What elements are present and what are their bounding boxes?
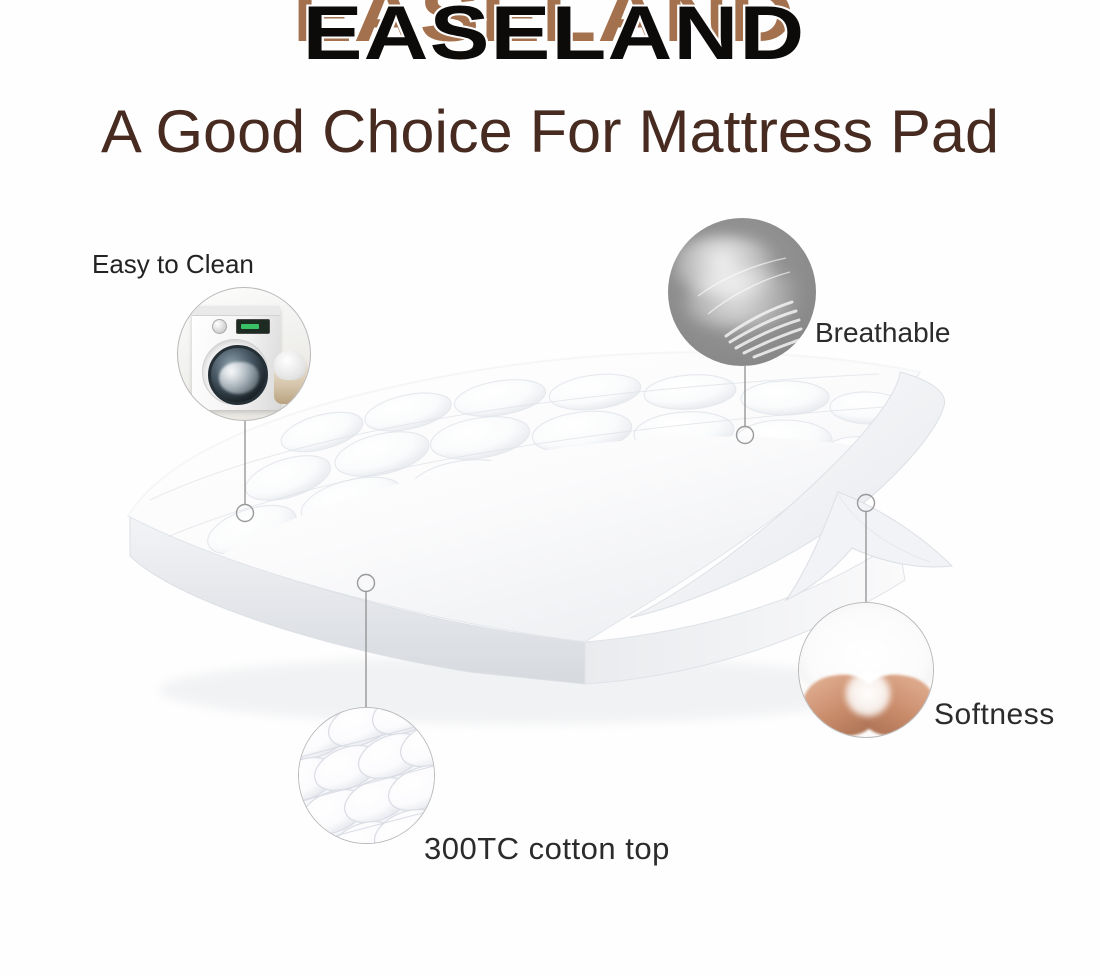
washer-body xyxy=(192,306,280,410)
callout-label-easy-to-clean: Easy to Clean xyxy=(92,249,254,280)
quilted-fabric-icon xyxy=(298,707,435,844)
washer-dial-icon xyxy=(212,319,227,334)
fiberfill-highlight xyxy=(845,671,891,717)
washing-machine-icon xyxy=(177,287,311,421)
steam-rays xyxy=(668,218,816,366)
washer-top-panel xyxy=(192,306,280,316)
brand-logo: EASELAND EASELAND xyxy=(0,0,1100,86)
marker-breathable xyxy=(737,427,754,444)
washer-laundry xyxy=(219,362,259,394)
callout-label-breathable: Breathable xyxy=(815,317,950,349)
marker-cotton-top xyxy=(358,575,375,592)
quilt-closeup xyxy=(299,708,435,844)
page-title: A Good Choice For Mattress Pad xyxy=(0,96,1100,168)
hands-fiberfill-icon xyxy=(798,602,934,738)
infographic-canvas: EASELAND EASELAND A Good Choice For Matt… xyxy=(0,0,1100,976)
brand-logo-text: EASELAND xyxy=(0,0,1100,72)
marker-softness xyxy=(858,495,875,512)
folded-towel-icon xyxy=(274,350,306,380)
washer-control-panel xyxy=(198,318,274,334)
mattress-pad-corner-flap xyxy=(630,372,952,618)
leader-lines xyxy=(245,366,866,708)
marker-easy-to-clean xyxy=(237,505,254,522)
product-shadow xyxy=(160,656,880,724)
washer-door xyxy=(202,339,268,405)
leader-markers xyxy=(237,427,875,592)
washer-door-glass xyxy=(208,345,268,405)
washer-display xyxy=(236,319,270,334)
steam-icon xyxy=(668,218,816,366)
callout-label-softness: Softness xyxy=(934,698,1055,732)
callout-label-cotton-top: 300TC cotton top xyxy=(424,831,670,867)
